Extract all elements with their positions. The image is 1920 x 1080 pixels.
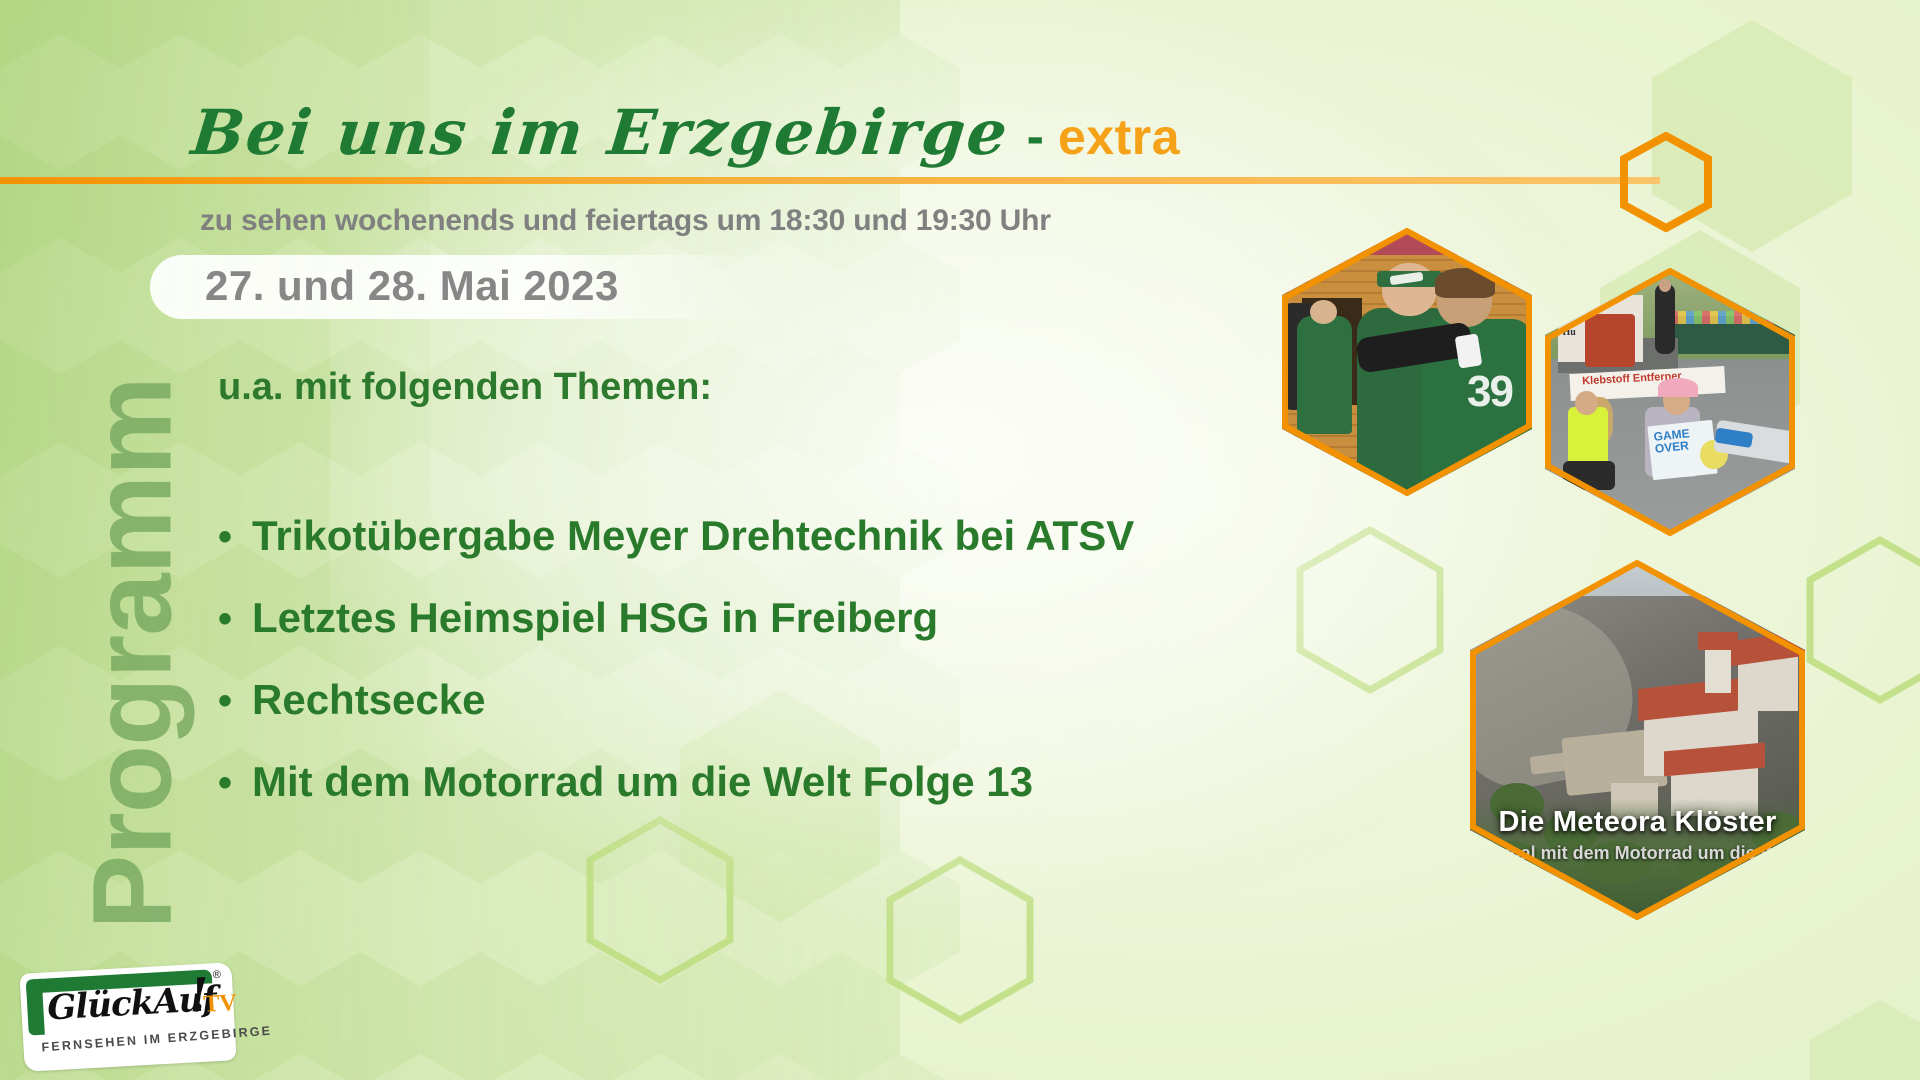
bullet-icon: • xyxy=(218,599,252,639)
handball-hug-photo: 39 xyxy=(1282,228,1532,496)
air-date: 27. und 28. Mai 2023 xyxy=(205,262,619,310)
hexagon-outline-icon xyxy=(1620,132,1712,232)
list-item: • Letztes Heimspiel HSG in Freiberg xyxy=(218,597,1134,639)
list-item-label: Letztes Heimspiel HSG in Freiberg xyxy=(252,597,938,639)
meteora-monastery-photo: Die Meteora Klöster Einmal mit dem Motor… xyxy=(1470,560,1805,920)
topics-intro: u.a. mit folgenden Themen: xyxy=(218,366,712,409)
poster-canvas: Programm Bei uns im Erzgebirge - extra z… xyxy=(0,0,1920,1080)
list-item-label: Rechtsecke xyxy=(252,679,485,721)
registered-trademark-icon: ® xyxy=(212,969,221,981)
list-item: • Trikotübergabe Meyer Drehtechnik bei A… xyxy=(218,515,1134,557)
logo-tv-suffix: TV xyxy=(203,990,238,1019)
topics-list: • Trikotübergabe Meyer Drehtechnik bei A… xyxy=(218,515,1134,843)
broadcast-times: zu sehen wochenends und feiertags um 18:… xyxy=(200,204,1051,238)
truck-text-left: ys xyxy=(1563,303,1572,314)
list-item: • Mit dem Motorrad um die Welt Folge 13 xyxy=(218,761,1134,803)
street-protest-photo: ys Hu Klebstoff Entferner GAME OVER xyxy=(1545,268,1795,536)
glueckauf-tv-logo[interactable]: GlückAuf ! ® TV FERNSEHEN IM ERZGEBIRGE xyxy=(19,962,236,1072)
title-script-text: Bei uns im Erzgebirge xyxy=(188,96,1012,169)
list-item-label: Mit dem Motorrad um die Welt Folge 13 xyxy=(252,761,1033,803)
bullet-icon: • xyxy=(218,517,252,557)
title-extra-badge: extra xyxy=(1058,108,1180,166)
jersey-number: 39 xyxy=(1467,367,1512,417)
bullet-icon: • xyxy=(218,681,252,721)
page-title: Bei uns im Erzgebirge - extra xyxy=(192,96,1180,169)
truck-text-lower: Hu xyxy=(1563,327,1576,338)
bullet-icon: • xyxy=(218,763,252,803)
list-item: • Rechtsecke xyxy=(218,679,1134,721)
title-dash: - xyxy=(1027,107,1044,167)
list-item-label: Trikotübergabe Meyer Drehtechnik bei ATS… xyxy=(252,515,1134,557)
orange-rule-icon xyxy=(0,177,1660,184)
